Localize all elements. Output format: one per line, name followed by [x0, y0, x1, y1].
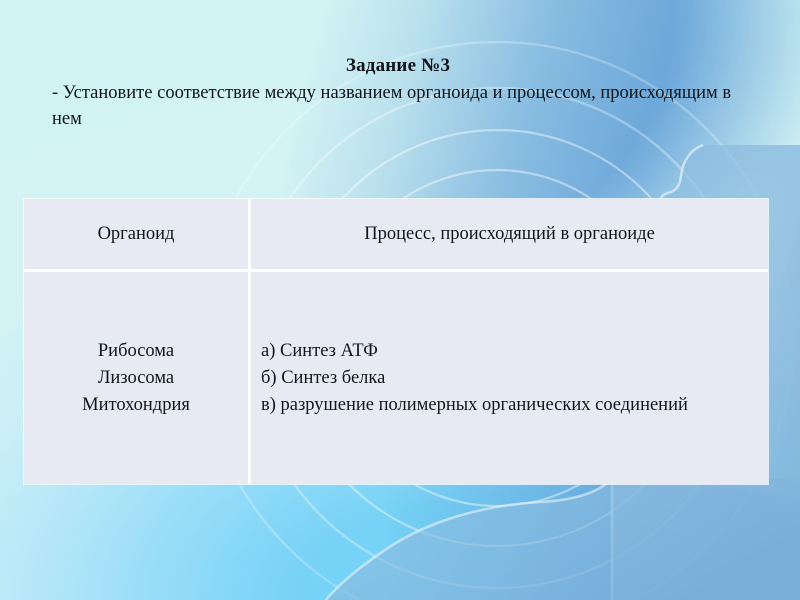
- table-cell-organoid-list: Рибосома Лизосома Митохондрия: [24, 272, 251, 484]
- table-header-process: Процесс, происходящий в органоиде: [251, 199, 768, 272]
- table-row: Рибосома Лизосома Митохондрия а) Синтез …: [24, 272, 768, 484]
- table-cell-process-list: а) Синтез АТФ б) Синтез белка в) разруше…: [251, 272, 768, 484]
- table-header-row: Органоид Процесс, происходящий в органои…: [24, 199, 768, 272]
- heading-block: Задание №3 - Установите соответствие меж…: [48, 54, 748, 132]
- correspondence-table: Органоид Процесс, происходящий в органои…: [24, 199, 768, 484]
- task-instruction-text: - Установите соответствие между название…: [48, 80, 748, 132]
- table-header-organoid: Органоид: [24, 199, 251, 272]
- slide-canvas: Задание №3 - Установите соответствие меж…: [0, 0, 800, 600]
- page-title: Задание №3: [48, 54, 748, 78]
